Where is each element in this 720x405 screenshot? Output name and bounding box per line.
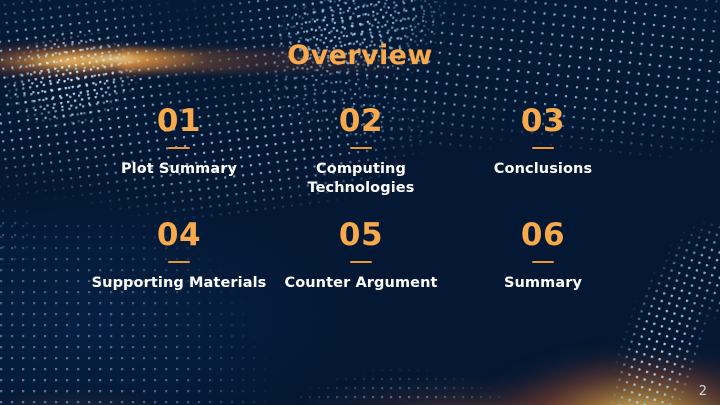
slide-content: Overview 01 Plot Summary 02 Computing Te… xyxy=(0,0,720,405)
agenda-item-label: Plot Summary xyxy=(88,160,270,179)
agenda-item-divider xyxy=(532,261,554,263)
agenda-item-number: 03 xyxy=(452,106,634,137)
agenda-item-number: 02 xyxy=(270,106,452,137)
agenda-item-divider xyxy=(350,261,372,263)
agenda-item-02[interactable]: 02 Computing Technologies xyxy=(270,98,452,198)
page-number: 2 xyxy=(699,384,707,399)
agenda-item-label: Supporting Materials xyxy=(88,274,270,293)
agenda-item-label: Summary xyxy=(452,274,634,293)
agenda-grid: 01 Plot Summary 02 Computing Technologie… xyxy=(88,98,634,293)
agenda-item-divider xyxy=(532,147,554,149)
agenda-item-divider xyxy=(168,261,190,263)
agenda-item-06[interactable]: 06 Summary xyxy=(452,212,634,293)
agenda-item-number: 05 xyxy=(270,220,452,251)
agenda-item-divider xyxy=(350,147,372,149)
agenda-item-divider xyxy=(168,147,190,149)
presentation-slide: Overview 01 Plot Summary 02 Computing Te… xyxy=(0,0,720,405)
agenda-item-03[interactable]: 03 Conclusions xyxy=(452,98,634,198)
agenda-item-05[interactable]: 05 Counter Argument xyxy=(270,212,452,293)
agenda-item-label: Conclusions xyxy=(452,160,634,179)
agenda-item-label: Computing Technologies xyxy=(270,160,452,198)
agenda-item-01[interactable]: 01 Plot Summary xyxy=(88,98,270,198)
agenda-item-number: 06 xyxy=(452,220,634,251)
agenda-item-number: 01 xyxy=(88,106,270,137)
agenda-item-label: Counter Argument xyxy=(270,274,452,293)
slide-title: Overview xyxy=(0,40,720,71)
agenda-item-04[interactable]: 04 Supporting Materials xyxy=(88,212,270,293)
agenda-item-number: 04 xyxy=(88,220,270,251)
